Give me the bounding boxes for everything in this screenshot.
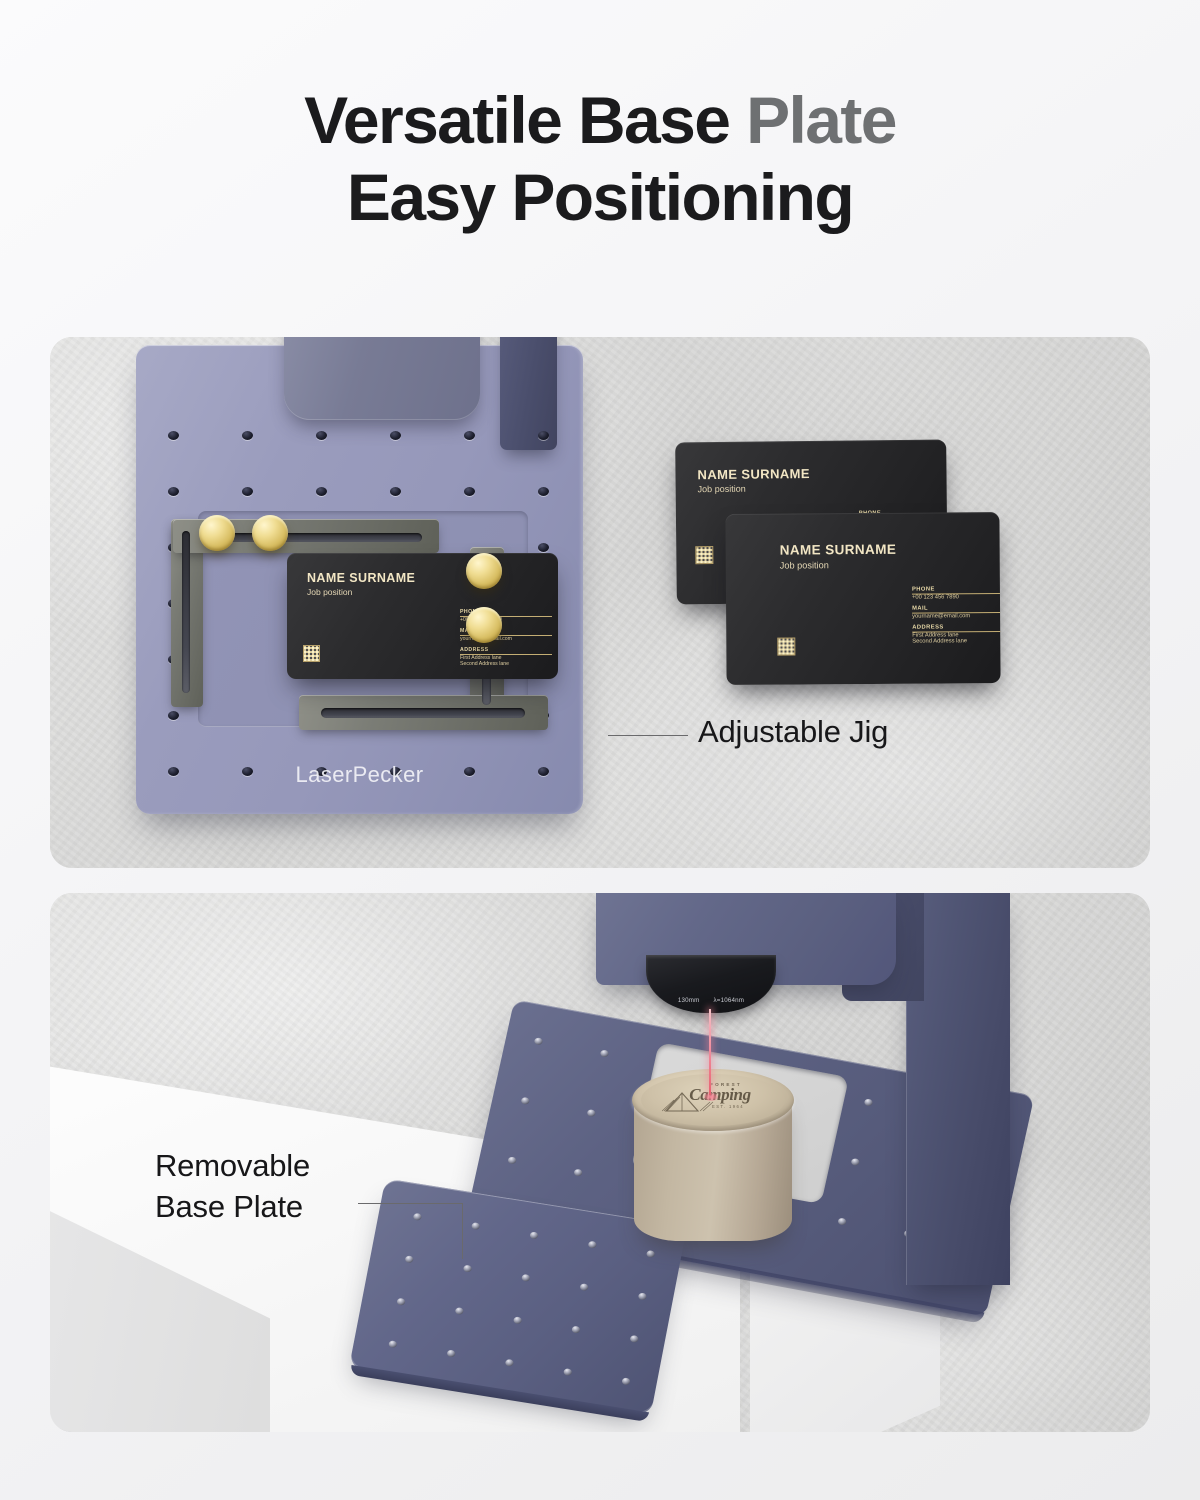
mounting-hole bbox=[579, 1283, 588, 1291]
card-name: NAME SURNAME bbox=[307, 571, 415, 585]
mounting-hole bbox=[573, 1169, 582, 1177]
mounting-hole bbox=[529, 1231, 538, 1239]
mounting-hole bbox=[538, 543, 549, 552]
mounting-hole bbox=[538, 431, 549, 440]
jig-thumbscrew-knob-2[interactable] bbox=[252, 515, 288, 551]
callout-label-adjustable-jig: Adjustable Jig bbox=[698, 714, 888, 750]
business-card-front: NAME SURNAME Job position PHONE +00 123 … bbox=[725, 512, 1000, 685]
lens-ring-markings: 130mm λ=1064nm bbox=[646, 997, 776, 1004]
mounting-hole bbox=[521, 1274, 530, 1282]
card-contact-mail: MAIL yourname@email.com bbox=[912, 605, 1001, 620]
jig-thumbscrew-knob-3[interactable] bbox=[466, 553, 502, 589]
business-card-in-jig: NAME SURNAME Job position PHONE +00 123 … bbox=[287, 553, 558, 679]
card-name: NAME SURNAME bbox=[780, 542, 897, 558]
mounting-hole bbox=[600, 1049, 609, 1057]
jig-thumbscrew-knob-4[interactable] bbox=[466, 607, 502, 643]
card-address-value-2: Second Address lane bbox=[912, 638, 1000, 645]
callout-label-line-1: Removable bbox=[155, 1146, 310, 1187]
mounting-hole bbox=[455, 1307, 464, 1315]
mounting-hole bbox=[563, 1368, 572, 1376]
card-job-title: Job position bbox=[780, 560, 829, 570]
jig-slot-left bbox=[182, 531, 190, 693]
laser-beam bbox=[709, 1009, 711, 1095]
engraving-main-text: Camping bbox=[646, 1086, 794, 1103]
card-job-title: Job position bbox=[307, 587, 352, 597]
card-contact-block: PHONE +00 123 456 7890 MAIL yourname@ema… bbox=[912, 586, 1001, 650]
mounting-hole bbox=[390, 431, 401, 440]
mounting-hole bbox=[316, 431, 327, 440]
base-plate-top-view: NAME SURNAME Job position PHONE +00 123 … bbox=[136, 345, 583, 814]
callout-label-line-2: Base Plate bbox=[155, 1187, 310, 1228]
mounting-hole bbox=[390, 487, 401, 496]
engraved-tin-can: FOREST Camping EST. 1964 bbox=[634, 1069, 792, 1251]
card-mail-value: yourname@email.com bbox=[912, 613, 1000, 620]
card-address-value-2: Second Address lane bbox=[460, 661, 552, 667]
mounting-hole bbox=[646, 1250, 655, 1258]
mounting-hole bbox=[538, 487, 549, 496]
mounting-hole bbox=[505, 1359, 514, 1367]
mounting-hole bbox=[638, 1292, 647, 1300]
mounting-hole bbox=[471, 1222, 480, 1230]
card-contact-phone: PHONE +00 123 456 7890 bbox=[912, 586, 1001, 601]
engraving-sub-text: EST. 1964 bbox=[662, 1104, 794, 1109]
panel-adjustable-jig: NAME SURNAME Job position PHONE +00 123 … bbox=[50, 337, 1150, 868]
qr-code-icon bbox=[303, 645, 320, 662]
headline-part-dark: Versatile Base bbox=[304, 83, 729, 157]
laser-burn-spot bbox=[704, 1093, 718, 1101]
mounting-hole bbox=[837, 1217, 846, 1225]
mounting-hole bbox=[851, 1158, 860, 1166]
headline-part-grey: Plate bbox=[729, 83, 896, 157]
card-contact-address: ADDRESS First Address lane Second Addres… bbox=[912, 624, 1000, 645]
callout-leader-line-jig bbox=[608, 735, 688, 736]
mounting-hole bbox=[396, 1298, 405, 1306]
mounting-hole bbox=[864, 1098, 873, 1106]
mounting-hole bbox=[388, 1340, 397, 1348]
qr-code-icon bbox=[695, 546, 713, 564]
mounting-hole bbox=[168, 431, 179, 440]
card-phone-value: +00 123 456 7890 bbox=[912, 594, 1001, 601]
mounting-hole bbox=[242, 487, 253, 496]
mounting-hole bbox=[630, 1335, 639, 1343]
headline-line-1: Versatile Base Plate bbox=[0, 82, 1200, 159]
card-job-title: Job position bbox=[698, 484, 746, 495]
jig-slot-bottom bbox=[321, 708, 525, 718]
laserpecker-logo: LaserPecker bbox=[136, 762, 583, 788]
card-contact-address: ADDRESS First Address lane Second Addres… bbox=[460, 647, 552, 667]
card-name: NAME SURNAME bbox=[697, 466, 810, 482]
callout-label-removable-base-plate: Removable Base Plate bbox=[155, 1146, 310, 1228]
qr-code-icon bbox=[777, 637, 795, 655]
mounting-hole bbox=[446, 1349, 455, 1357]
mounting-hole bbox=[464, 431, 475, 440]
mounting-hole bbox=[464, 487, 475, 496]
mounting-hole bbox=[507, 1156, 516, 1164]
page-headline: Versatile Base Plate Easy Positioning bbox=[0, 82, 1200, 235]
mounting-hole bbox=[242, 431, 253, 440]
mounting-hole bbox=[621, 1377, 630, 1385]
mounting-hole bbox=[316, 487, 327, 496]
jig-thumbscrew-knob-1[interactable] bbox=[199, 515, 235, 551]
mounting-hole bbox=[463, 1265, 472, 1273]
mounting-hole bbox=[571, 1326, 580, 1334]
mounting-hole bbox=[168, 487, 179, 496]
mounting-hole bbox=[521, 1097, 530, 1105]
card-address-label: ADDRESS bbox=[460, 647, 552, 655]
mounting-hole bbox=[513, 1316, 522, 1324]
tin-lid: FOREST Camping EST. 1964 bbox=[632, 1069, 794, 1131]
lens-wavelength-mark: λ=1064nm bbox=[713, 997, 744, 1004]
lens-focal-mark: 130mm bbox=[678, 997, 700, 1004]
callout-leader-line-removable-plate bbox=[358, 1203, 463, 1259]
mounting-hole bbox=[587, 1109, 596, 1117]
mounting-hole bbox=[588, 1241, 597, 1249]
mounting-hole bbox=[168, 711, 179, 720]
headline-line-2: Easy Positioning bbox=[0, 159, 1200, 236]
mounting-hole bbox=[534, 1037, 543, 1045]
